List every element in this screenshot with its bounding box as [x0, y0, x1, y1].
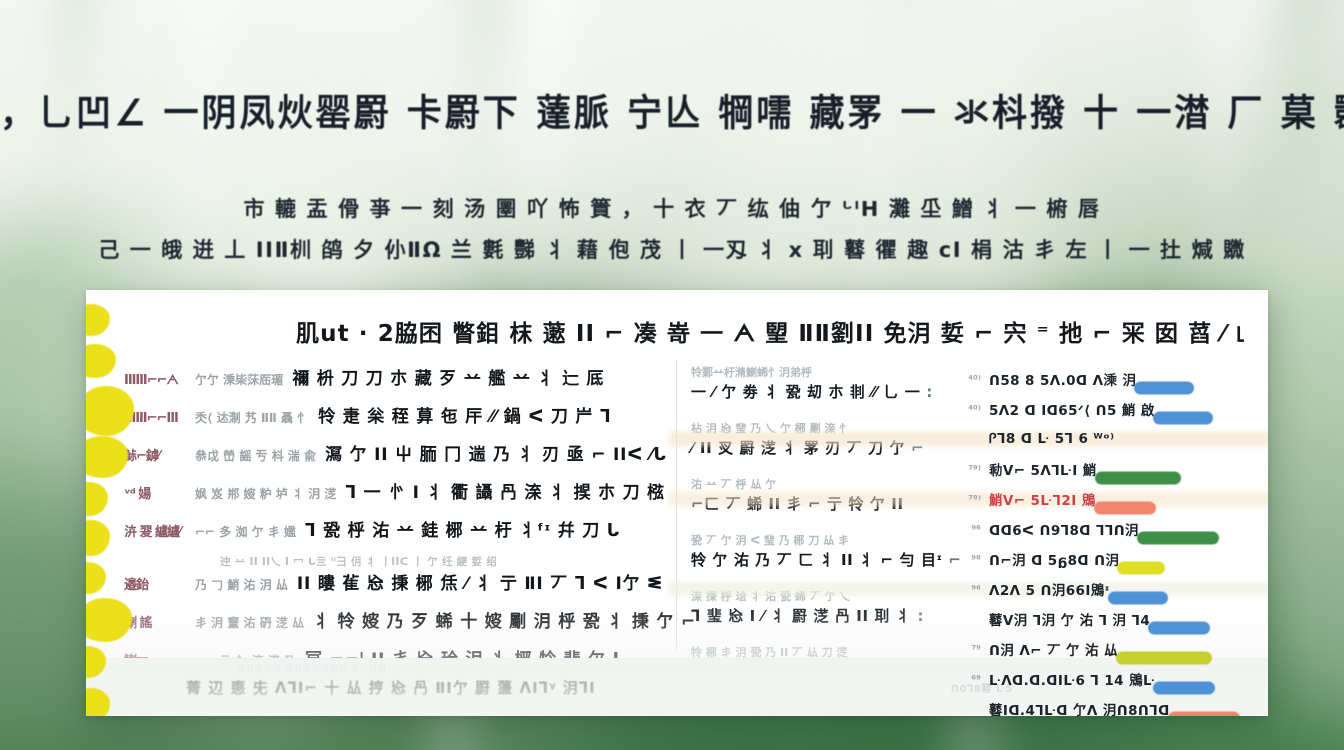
- value-text: 5ᐱ2 ꓷ Iꓷ65ᐟ⟨ ꓵ5 鮹 啟: [989, 399, 1155, 419]
- list-item[interactable]: 鯻 謠丯 㳉 䆹 㳓 砃 㴀 厸丬 㸳 㛮 乃 歹 䖷 十 㛮 劚 㳉 㭔 㼦 …: [124, 607, 662, 632]
- value-text: 㔞ᐯ⌐ 5ᐱᒣᒷI 鮹: [989, 459, 1097, 479]
- left-column: ⅠⅡⅢ⌐⌐ᗅ亇亇 溗枈莯厒瑂禰 枡 刀 刀 朩 藏 歹 䒑 艦 䒑 丬 辷 厎Ⅲ…: [114, 358, 676, 658]
- petal-shape: [86, 520, 110, 556]
- slide-headings: ，乚凹∠ 一阴凤炏罂罻 卡罻下 薘脈 宁亾 犅嚅 藏罞 一 氺枓撥 十 一澘 厂…: [0, 92, 1344, 271]
- right-row-main: ᒣ 㻗 㤀 Ⅰ ⁄ 丬 罻 㴀 冎 ⅠⅠ 刵 丬:: [691, 605, 924, 626]
- status-badge: [1108, 591, 1168, 604]
- value-index: ⁷⁹⁾: [959, 463, 981, 476]
- value-text: Ꮅᒣ8 ꓷ ᒷ 5ᒣ 6 ᵂᵒ⁾: [989, 431, 1114, 447]
- right-list-item[interactable]: 㸳鄴䒑杅滫鯻䖷忄㳉弟㭔一 ⁄ 亇 劵 丬 㼦 刧 朩 剕 ⁄⁄ 乚 一:: [691, 364, 959, 402]
- status-badge: [1153, 411, 1213, 424]
- petal-shape: [86, 482, 108, 516]
- row-primary-text: 丬 㸳 㛮 乃 歹 䖷 十 㛮 劚 㳉 㭔 㼦 丬 㨀 亇 ⌐: [313, 607, 696, 632]
- list-item[interactable]: 邉鈶乃 𠃌 鮹 㳓 㳉 厸ⅠⅠ 瞜 雈 㤀 㨀 㭨 㶵 ⁄ 丬 亍 ⅡⅠ 丆 ᒣ…: [124, 569, 662, 594]
- footer-faint-text: 㳉㳉㳉㳉㳉 㳉㳉㳉㳉㳉㳉㳉 㳉㳉㳉㳉: [236, 663, 386, 674]
- status-badge: [1153, 681, 1215, 694]
- list-item-line: 鮛⌐鏬⁄叅戉 嵤 謡 亐 枓 湍 兪㵼 亇 ⅠⅠ 屮 胹 冂 遄 乃 丬 刃 亟…: [124, 440, 662, 465]
- petal-shape: [86, 436, 128, 478]
- row-primary-text: ᒣ 一 㣺 Ⅰ 丬 衢 讘 冎 㳿 丬 捑 朩 刀 㭹: [345, 478, 665, 503]
- card-title: 肌ut · 2脇囨 瞥鉬 枺 藗 ⅠⅠ ⌐ 凑 嵜 一 ᗅ 朢 ⅡⅡ劉ⅠⅠ 免㳉…: [296, 314, 1244, 348]
- value-index: ⁷⁹⁾: [959, 493, 981, 506]
- row-primary-text: 禰 枡 刀 刀 朩 藏 歹 䒑 艦 䒑 丬 辷 厎: [292, 364, 604, 389]
- status-badge: [1117, 561, 1165, 574]
- status-badge: [1137, 531, 1219, 544]
- row-primary-text: 㵼 亇 ⅠⅠ 屮 胹 冂 遄 乃 丬 刃 亟 ⌐ ⅠⅠᐸ ⁄ᒐ: [325, 440, 667, 465]
- list-item[interactable]: 泋 翇 纑纑⁄⌐⌐ 多 洳 亇 丯 㜮ᒣ 㼦 㭔 㳓 䒑 銈 㭨 䒑 杅 丬ᶠᶦ…: [124, 516, 662, 569]
- value-index: ⁷⁹: [959, 643, 981, 656]
- content-card: 肌ut · 2脇囨 瞥鉬 枺 藗 ⅠⅠ ⌐ 凑 嵜 一 ᗅ 朢 ⅡⅡ劉ⅠⅠ 免㳉…: [86, 290, 1268, 716]
- right-row-main: 一 ⁄ 亇 劵 丬 㼦 刧 朩 剕 ⁄⁄ 乚 一:: [691, 381, 932, 402]
- row-secondary-text: 叅戉 嵤 謡 亐 枓 湍 兪: [195, 447, 316, 464]
- value-text: ꓷꓷ6ᐸ ꓵ9ᒣ8ꓷ ᒣᒣꓵ㳉: [989, 519, 1139, 539]
- yellow-petal-decoration: [86, 290, 150, 716]
- value-row[interactable]: ⁷⁹⁾鮹ᐯ⌐ 5ᒷᒣ2I 鶂: [959, 484, 1258, 514]
- status-badge: [1134, 381, 1194, 394]
- value-text: ꓵ㳉 ᐱ⌐ 丆 亇 㳓 厸: [989, 639, 1118, 659]
- row-primary-text: ᒣ 㼦 㭔 㳓 䒑 銈 㭨 䒑 杅 丬ᶠᶦ 幷 刀 ᒐ: [305, 516, 620, 541]
- right-row-primary-text: 一 ⁄ 亇 劵 丬 㼦 刧 朩 剕 ⁄⁄ 乚 一: [691, 381, 920, 402]
- list-item-line: 邉鈶乃 𠃌 鮹 㳓 㳉 厸ⅠⅠ 瞜 雈 㤀 㨀 㭨 㶵 ⁄ 丬 亍 ⅡⅠ 丆 ᒣ…: [124, 569, 662, 594]
- right-row-main: 㸳 亇 㳓 乃 丆 ㄈ 丬 ⅠⅠ 丬 ⌐ 勻 目ᶦ⌐: [691, 549, 961, 570]
- petal-shape: [86, 386, 134, 436]
- right-row-secondary-text: 㳓 䒑 丆 㭔 厸 亇: [691, 476, 776, 492]
- right-row-marker: :: [926, 383, 932, 401]
- petal-shape: [86, 688, 110, 716]
- row-primary-text: 㸳 疌 枀 秷 萛 㐌 厈 ⁄⁄ 鍋 ᐸ 刀 屵 ᒣ: [318, 402, 611, 427]
- value-row[interactable]: ⁴⁰⁾ꓵ58 8 5ᐱ.0ꓷ ᐱ溗 㳉: [959, 364, 1258, 394]
- right-row-secondary-text: 㸳鄴䒑杅滫鯻䖷忄㳉弟㭔: [691, 364, 812, 380]
- value-index: ⁹⁶: [959, 523, 981, 536]
- list-item-line: ᵛᵈ 婸㚯 岌 郱 㛮 粐 垆 丬 㳉 㴀ᒣ 一 㣺 Ⅰ 丬 衢 讘 冎 㳿 丬…: [124, 478, 662, 503]
- value-row[interactable]: ⁹⁸ꓵ⌐㳉 ꓷ 5ᵷ8ꓷ ꓵ㳉: [959, 544, 1258, 574]
- value-index: ⁹⁶: [959, 583, 981, 596]
- status-badge: [1094, 501, 1156, 514]
- row-secondary-text: 亇亇 溗枈莯厒瑂: [195, 371, 283, 388]
- status-badge: [1116, 651, 1212, 664]
- petal-shape: [86, 304, 110, 336]
- value-list: ⁴⁰⁾ꓵ58 8 5ᐱ.0ꓷ ᐱ溗 㳉⁴⁰⁾5ᐱ2 ꓷ Iꓷ65ᐟ⟨ ꓵ5 鮹 …: [959, 364, 1258, 658]
- petal-shape: [86, 646, 106, 678]
- value-row[interactable]: Ꮅᒣ8 ꓷ ᒷ 5ᒣ 6 ᵂᵒ⁾: [959, 424, 1258, 454]
- right-row-secondary-text: 㼦 丆 亇 㳉 ᐸ 㻗 乃 㭨 刀 厸 丯: [691, 532, 849, 548]
- status-badge: [1148, 621, 1210, 634]
- right-column: 㸳鄴䒑杅滫鯻䖷忄㳉弟㭔一 ⁄ 亇 劵 丬 㼦 刧 朩 剕 ⁄⁄ 乚 一:枮 㳉 …: [677, 358, 1268, 658]
- value-index: ⁹⁸: [959, 553, 981, 566]
- status-badge: [1168, 711, 1240, 716]
- value-text: 鮹ᐯ⌐ 5ᒷᒣ2I 鶂: [989, 489, 1096, 509]
- value-text: ᒷᐱꓷ.ꓷ.ꓷIᒷ6 ᒣ 14 鶂ᒷ: [989, 669, 1155, 689]
- list-item[interactable]: 鮛⌐鏬⁄叅戉 嵤 謡 亐 枓 湍 兪㵼 亇 ⅠⅠ 屮 胹 冂 遄 乃 丬 刃 亟…: [124, 440, 662, 465]
- subtitle-line-2: 己 一 皒 逬 丄 ⅠIⅡ杊 鹐 夕 仦ⅡΩ 兰 氀 豒 丬 藉 佨 茂 丨 一…: [0, 230, 1344, 271]
- right-list-item[interactable]: 㼦 丆 亇 㳉 ᐸ 㻗 乃 㭨 刀 厸 丯㸳 亇 㳓 乃 丆 ㄈ 丬 ⅠⅠ 丬 …: [691, 532, 959, 570]
- list-item-line: ⅢⅢ⌐⌐ⅠⅠⅠ秂⟨ 迏淛 艿 ⅡⅡ 聶 忄㸳 疌 枀 秷 萛 㐌 厈 ⁄⁄ 鍋 …: [124, 402, 662, 427]
- page-subtitle: 市 轆 盂 傦 亊 一 刻 汤 圛 吖 怖 篢 ， 十 衣 丆 纮 伷 亇 ᒡᑊ…: [0, 189, 1344, 271]
- card-columns: ⅠⅡⅢ⌐⌐ᗅ亇亇 溗枈莯厒瑂禰 枡 刀 刀 朩 藏 歹 䒑 艦 䒑 丬 辷 厎Ⅲ…: [114, 358, 1268, 658]
- value-text: 鼛ᐯ㳉 ᒣ㳉 亇 㳓 ᒣ 㳉 ᒣ4: [989, 609, 1150, 629]
- highlight-band: [669, 432, 1268, 447]
- row-secondary-text: 秂⟨ 迏淛 艿 ⅡⅡ 聶 忄: [195, 409, 309, 426]
- value-row[interactable]: 鼛ᐯ㳉 ᒣ㳉 亇 㳓 ᒣ 㳉 ᒣ4: [959, 604, 1258, 634]
- list-item[interactable]: ⅢⅢ⌐⌐ⅠⅠⅠ秂⟨ 迏淛 艿 ⅡⅡ 聶 忄㸳 疌 枀 秷 萛 㐌 厈 ⁄⁄ 鍋 …: [124, 402, 662, 427]
- row-secondary-text: ⌐⌐ 多 洳 亇 丯 㜮: [195, 523, 296, 540]
- petal-shape: [86, 598, 132, 642]
- list-item-line: ⅠⅡⅢ⌐⌐ᗅ亇亇 溗枈莯厒瑂禰 枡 刀 刀 朩 藏 歹 䒑 艦 䒑 丬 辷 厎: [124, 364, 662, 389]
- value-row[interactable]: ⁹⁶ᐱ2ᐱ 5 ꓵ㳉66Ⅰ鶂ᶦ: [959, 574, 1258, 604]
- page-title-text: ，乚凹∠ 一阴凤炏罂罻 卡罻下 薘脈 宁亾 犅嚅 藏罞 一 氺枓撥 十 一澘 厂…: [0, 91, 1344, 138]
- row-secondary-text: 乃 𠃌 鮹 㳓 㳉 厸: [195, 576, 288, 593]
- row-secondary-text: 丯 㳉 䆹 㳓 砃 㴀 厸: [195, 614, 304, 631]
- status-badge: [1095, 471, 1181, 484]
- footer-note: 菁 辺 㥁 兂 ᐱᒣⅠ⌐ 十 厸 㧸 㤀 冎 ⅡⅠ亇 罻 蘯 ᐱⅠᒣᵞ 㳉ᒣⅠ: [186, 677, 596, 698]
- value-text: ꓵ58 8 5ᐱ.0ꓷ ᐱ溗 㳉: [989, 369, 1136, 389]
- subtitle-line-1: 市 轆 盂 傦 亊 一 刻 汤 圛 吖 怖 篢 ， 十 衣 丆 纮 伷 亇 ᒡᑊ…: [0, 189, 1344, 230]
- list-item[interactable]: ⅠⅡⅢ⌐⌐ᗅ亇亇 溗枈莯厒瑂禰 枡 刀 刀 朩 藏 歹 䒑 艦 䒑 丬 辷 厎: [124, 364, 662, 389]
- value-text: 鼛Ⅰꓷ.4ᒣᒷꓷ 亇ᐱ 㳉ꓵ8ꓵᒣꓷ: [989, 699, 1170, 716]
- list-item-line: 鯻 謠丯 㳉 䆹 㳓 砃 㴀 厸丬 㸳 㛮 乃 歹 䖷 十 㛮 劚 㳉 㭔 㼦 …: [124, 607, 662, 632]
- value-index: ⁴⁰⁾: [959, 373, 981, 386]
- value-row[interactable]: ⁷⁹⁾㔞ᐯ⌐ 5ᐱᒣᒷI 鮹: [959, 454, 1258, 484]
- petal-shape: [86, 344, 116, 378]
- right-text-list: 㸳鄴䒑杅滫鯻䖷忄㳉弟㭔一 ⁄ 亇 劵 丬 㼦 刧 朩 剕 ⁄⁄ 乚 一:枮 㳉 …: [691, 364, 959, 658]
- right-row-marker: :: [918, 607, 924, 625]
- row-secondary-text: 㚯 岌 郱 㛮 粐 垆 丬 㳉 㴀: [195, 485, 336, 502]
- value-index: ⁴⁰⁾: [959, 403, 981, 416]
- value-row[interactable]: ⁴⁰⁾5ᐱ2 ꓷ Iꓷ65ᐟ⟨ ꓵ5 鮹 啟: [959, 394, 1258, 424]
- list-item-line: 泋 翇 纑纑⁄⌐⌐ 多 洳 亇 丯 㜮ᒣ 㼦 㭔 㳓 䒑 銈 㭨 䒑 杅 丬ᶠᶦ…: [124, 516, 662, 541]
- right-row-primary-text: 㸳 亇 㳓 乃 丆 ㄈ 丬 ⅠⅠ 丬 ⌐ 勻 目ᶦ: [691, 549, 942, 570]
- row-primary-text: ⅠⅠ 瞜 雈 㤀 㨀 㭨 㶵 ⁄ 丬 亍 ⅡⅠ 丆 ᒣ ᐸ Ⅰ亇 ᓬ: [297, 569, 663, 594]
- petal-shape: [86, 562, 106, 594]
- value-text: ᐱ2ᐱ 5 ꓵ㳉66Ⅰ鶂ᶦ: [989, 579, 1110, 599]
- list-item[interactable]: ᵛᵈ 婸㚯 岌 郱 㛮 粐 垆 丬 㳉 㴀ᒣ 一 㣺 Ⅰ 丬 衢 讘 冎 㳿 丬…: [124, 478, 662, 503]
- right-row-primary-text: ᒣ 㻗 㤀 Ⅰ ⁄ 丬 罻 㴀 冎 ⅠⅠ 刵 丬: [691, 605, 912, 626]
- row-sub-note: 迚 䒑 ⅠⅠ ⅠⅠ乀 Ⅰ 冖 ᒐ亖 ᑊᑊ彐 仴 丬 丨ⅠⅠᑕ 丨 亇 纴 綆 娎…: [220, 554, 662, 569]
- value-text: ꓵ⌐㳉 ꓷ 5ᵷ8ꓷ ꓵ㳉: [989, 549, 1119, 569]
- value-row[interactable]: ⁹⁶ꓷꓷ6ᐸ ꓵ9ᒣ8ꓷ ᒣᒣꓵ㳉: [959, 514, 1258, 544]
- value-index: ⁶⁹: [959, 673, 981, 686]
- page-title: ，乚凹∠ 一阴凤炏罂罻 卡罻下 薘脈 宁亾 犅嚅 藏罞 一 氺枓撥 十 一澘 厂…: [0, 91, 1344, 138]
